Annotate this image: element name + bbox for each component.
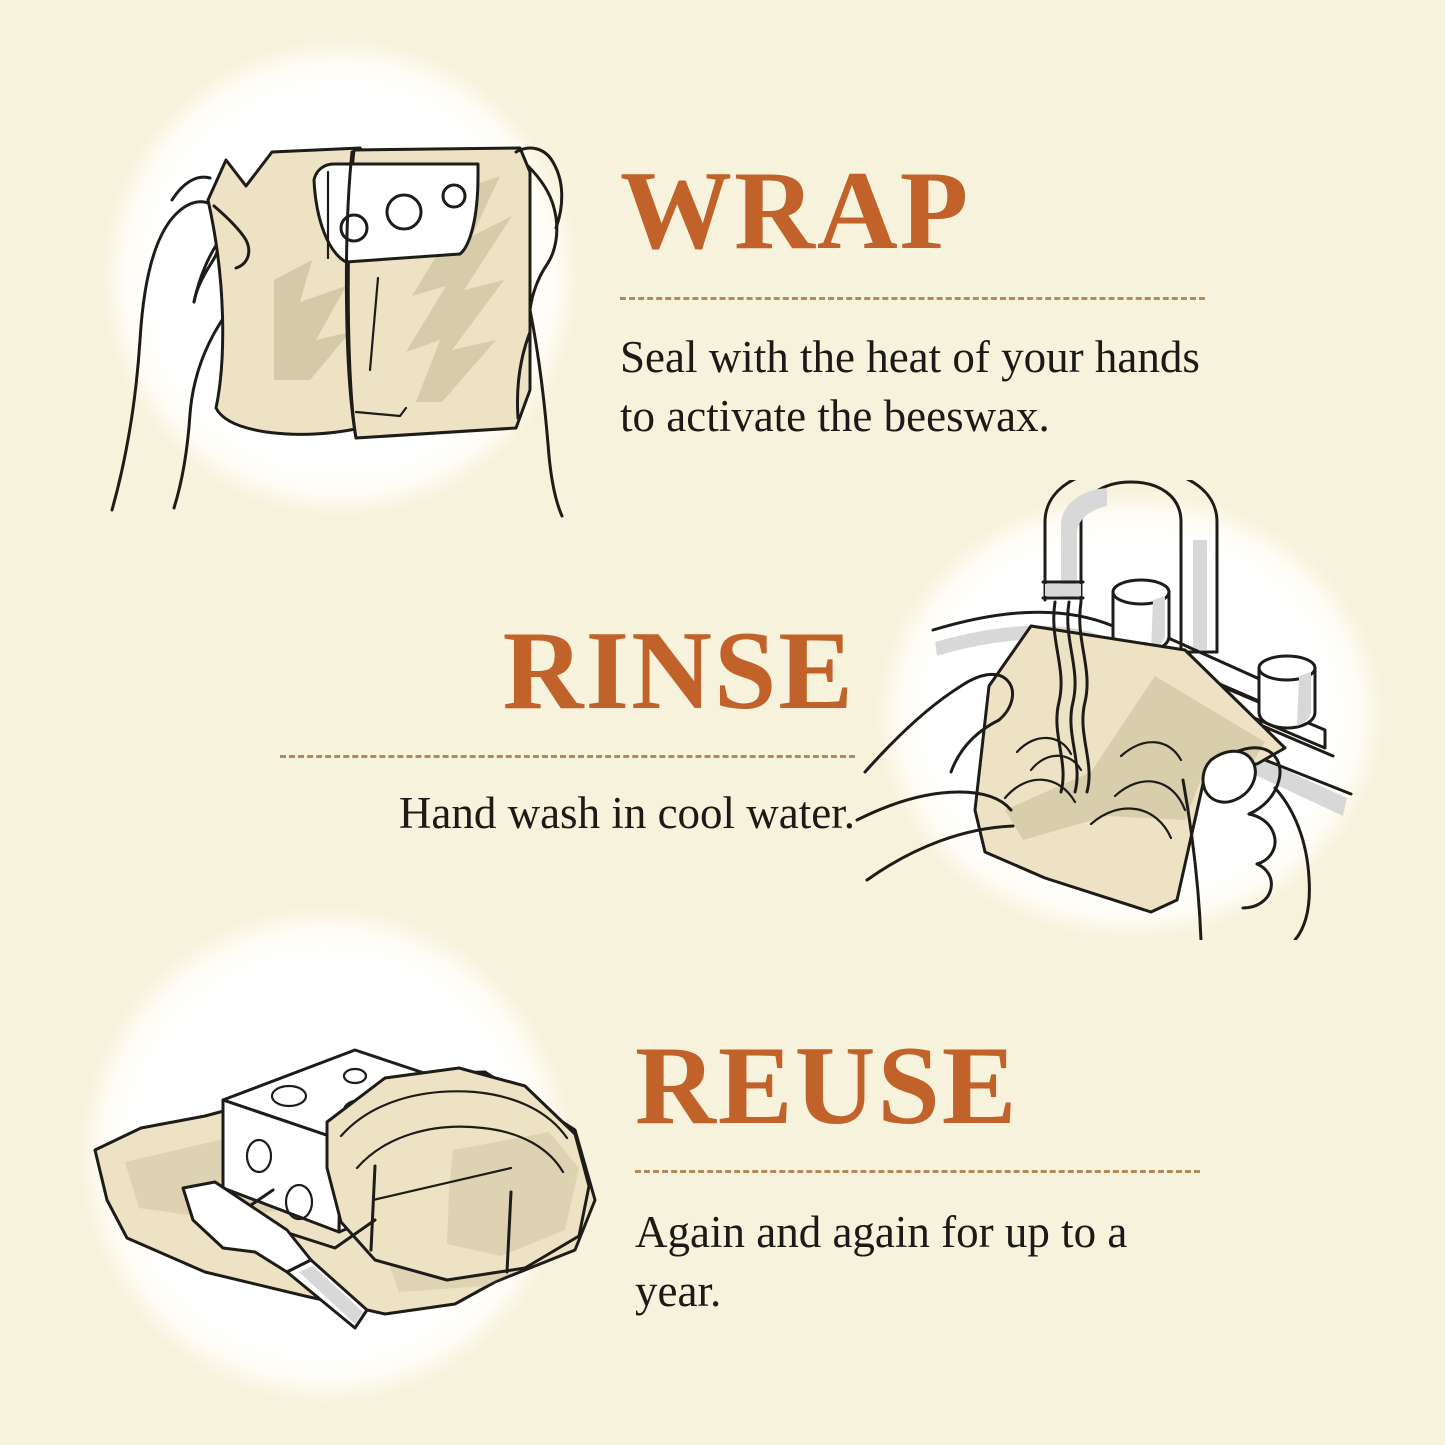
illustration-rinse	[855, 480, 1395, 940]
divider-wrap	[620, 297, 1205, 300]
illustration-reuse	[55, 900, 645, 1410]
faucet-knob-right	[1259, 656, 1315, 728]
illustration-wrap	[60, 40, 620, 520]
step-body-rinse: Hand wash in cool water.	[255, 784, 855, 843]
step-text-wrap: WRAP Seal with the heat of your hands to…	[620, 155, 1220, 447]
step-title-reuse: REUSE	[635, 1030, 1225, 1142]
step-title-rinse: RINSE	[255, 615, 855, 727]
divider-rinse	[280, 755, 855, 758]
step-body-reuse: Again and again for up to a year.	[635, 1203, 1215, 1322]
step-text-rinse: RINSE Hand wash in cool water.	[255, 615, 855, 843]
step-title-wrap: WRAP	[620, 155, 1220, 267]
divider-reuse	[635, 1170, 1200, 1173]
step-text-reuse: REUSE Again and again for up to a year.	[635, 1030, 1225, 1322]
step-body-wrap: Seal with the heat of your hands to acti…	[620, 328, 1200, 447]
infographic-page: WRAP Seal with the heat of your hands to…	[0, 0, 1445, 1445]
